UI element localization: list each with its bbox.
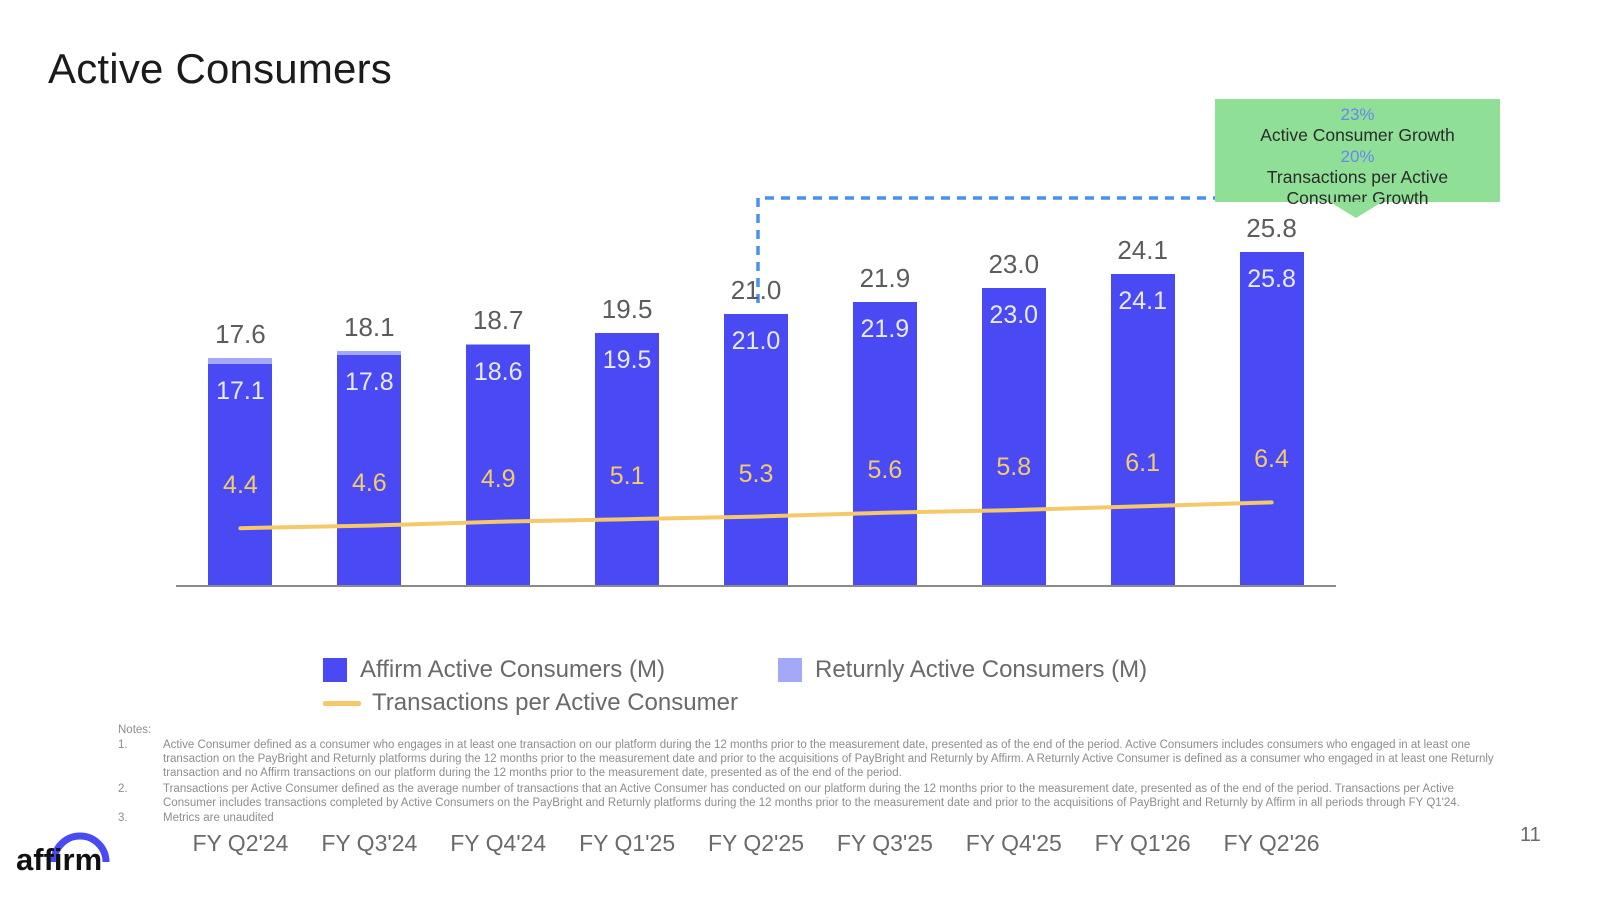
callout-growth-label: Active Consumer Growth — [1215, 125, 1500, 146]
growth-callout: 23% Active Consumer Growth 20% Transacti… — [1215, 99, 1500, 202]
x-axis-label: FY Q2'26 — [1172, 830, 1372, 857]
chart-legend: Affirm Active Consumers (M) Returnly Act… — [323, 656, 1223, 717]
tpac-value-label: 6.4 — [1202, 445, 1342, 474]
bar-total-label: 25.8 — [1192, 213, 1352, 244]
slide-canvas: Active Consumers 23% Active Consumer Gro… — [0, 0, 1600, 899]
callout-tpac-pct: 20% — [1215, 146, 1500, 167]
x-axis-line — [176, 585, 1336, 587]
page-number: 11 — [1520, 824, 1541, 847]
legend-label-affirm: Affirm Active Consumers (M) — [360, 656, 665, 684]
bar-segment-returnly[interactable] — [466, 344, 530, 345]
bar-segment-returnly[interactable] — [337, 351, 401, 355]
legend-swatch-returnly-icon — [778, 658, 802, 682]
tpac-value-label: 4.4 — [170, 471, 310, 500]
bar-value-label-affirm: 17.8 — [337, 368, 401, 397]
tpac-value-label: 4.9 — [428, 465, 568, 494]
tpac-value-label: 5.8 — [944, 453, 1084, 482]
bar-group[interactable]: 21.9 — [853, 302, 917, 585]
note-number: 1. — [118, 738, 163, 781]
legend-item-tpac[interactable]: Transactions per Active Consumer — [323, 689, 738, 717]
legend-swatch-affirm-icon — [323, 658, 347, 682]
tpac-value-label: 5.3 — [686, 460, 826, 489]
note-number: 2. — [118, 782, 163, 810]
notes-section: Notes: 1.Active Consumer defined as a co… — [118, 724, 1508, 826]
note-text: Transactions per Active Consumer defined… — [163, 782, 1508, 810]
bar-segment-affirm[interactable] — [982, 288, 1046, 585]
bar-value-label-affirm: 21.0 — [724, 327, 788, 356]
bar-group[interactable]: 19.5 — [595, 333, 659, 585]
legend-item-affirm[interactable]: Affirm Active Consumers (M) — [323, 656, 778, 684]
tpac-value-label: 6.1 — [1073, 449, 1213, 478]
tpac-value-label: 5.6 — [815, 456, 955, 485]
bar-value-label-affirm: 18.6 — [466, 358, 530, 387]
bar-segment-affirm[interactable] — [1240, 252, 1304, 585]
legend-label-tpac: Transactions per Active Consumer — [372, 689, 738, 717]
legend-item-returnly[interactable]: Returnly Active Consumers (M) — [778, 656, 1147, 684]
callout-growth-pct: 23% — [1215, 104, 1500, 125]
bar-group[interactable]: 24.1 — [1111, 274, 1175, 585]
bar-group[interactable]: 21.0 — [724, 314, 788, 585]
bar-value-label-affirm: 19.5 — [595, 346, 659, 375]
note-item: 3.Metrics are unaudited — [118, 811, 1508, 825]
notes-list: 1.Active Consumer defined as a consumer … — [118, 738, 1508, 825]
note-item: 1.Active Consumer defined as a consumer … — [118, 738, 1508, 781]
bar-group[interactable]: 23.0 — [982, 288, 1046, 585]
note-item: 2.Transactions per Active Consumer defin… — [118, 782, 1508, 810]
bar-value-label-affirm: 23.0 — [982, 301, 1046, 330]
legend-swatch-line-icon — [323, 701, 361, 706]
bar-value-label-affirm: 25.8 — [1240, 265, 1304, 294]
tpac-value-label: 5.1 — [557, 462, 697, 491]
bar-segment-affirm[interactable] — [1111, 274, 1175, 585]
bar-value-label-affirm: 24.1 — [1111, 287, 1175, 316]
note-number: 3. — [118, 811, 163, 825]
chart-plot-area: 17.117.64.4FY Q2'2417.818.14.6FY Q3'2418… — [176, 230, 1336, 585]
notes-heading: Notes: — [118, 724, 1508, 736]
bar-segment-returnly[interactable] — [208, 358, 272, 364]
bar-value-label-affirm: 17.1 — [208, 377, 272, 406]
bar-value-label-affirm: 21.9 — [853, 315, 917, 344]
bar-segment-affirm[interactable] — [853, 302, 917, 585]
legend-label-returnly: Returnly Active Consumers (M) — [815, 656, 1147, 684]
bar-group[interactable]: 25.8 — [1240, 252, 1304, 585]
note-text: Active Consumer defined as a consumer wh… — [163, 738, 1508, 781]
note-text: Metrics are unaudited — [163, 811, 1508, 825]
svg-text:affirm: affirm — [16, 842, 102, 872]
affirm-logo: affirm — [14, 826, 114, 872]
page-title: Active Consumers — [48, 46, 392, 92]
callout-tpac-label-1: Transactions per Active — [1215, 167, 1500, 188]
tpac-value-label: 4.6 — [299, 469, 439, 498]
